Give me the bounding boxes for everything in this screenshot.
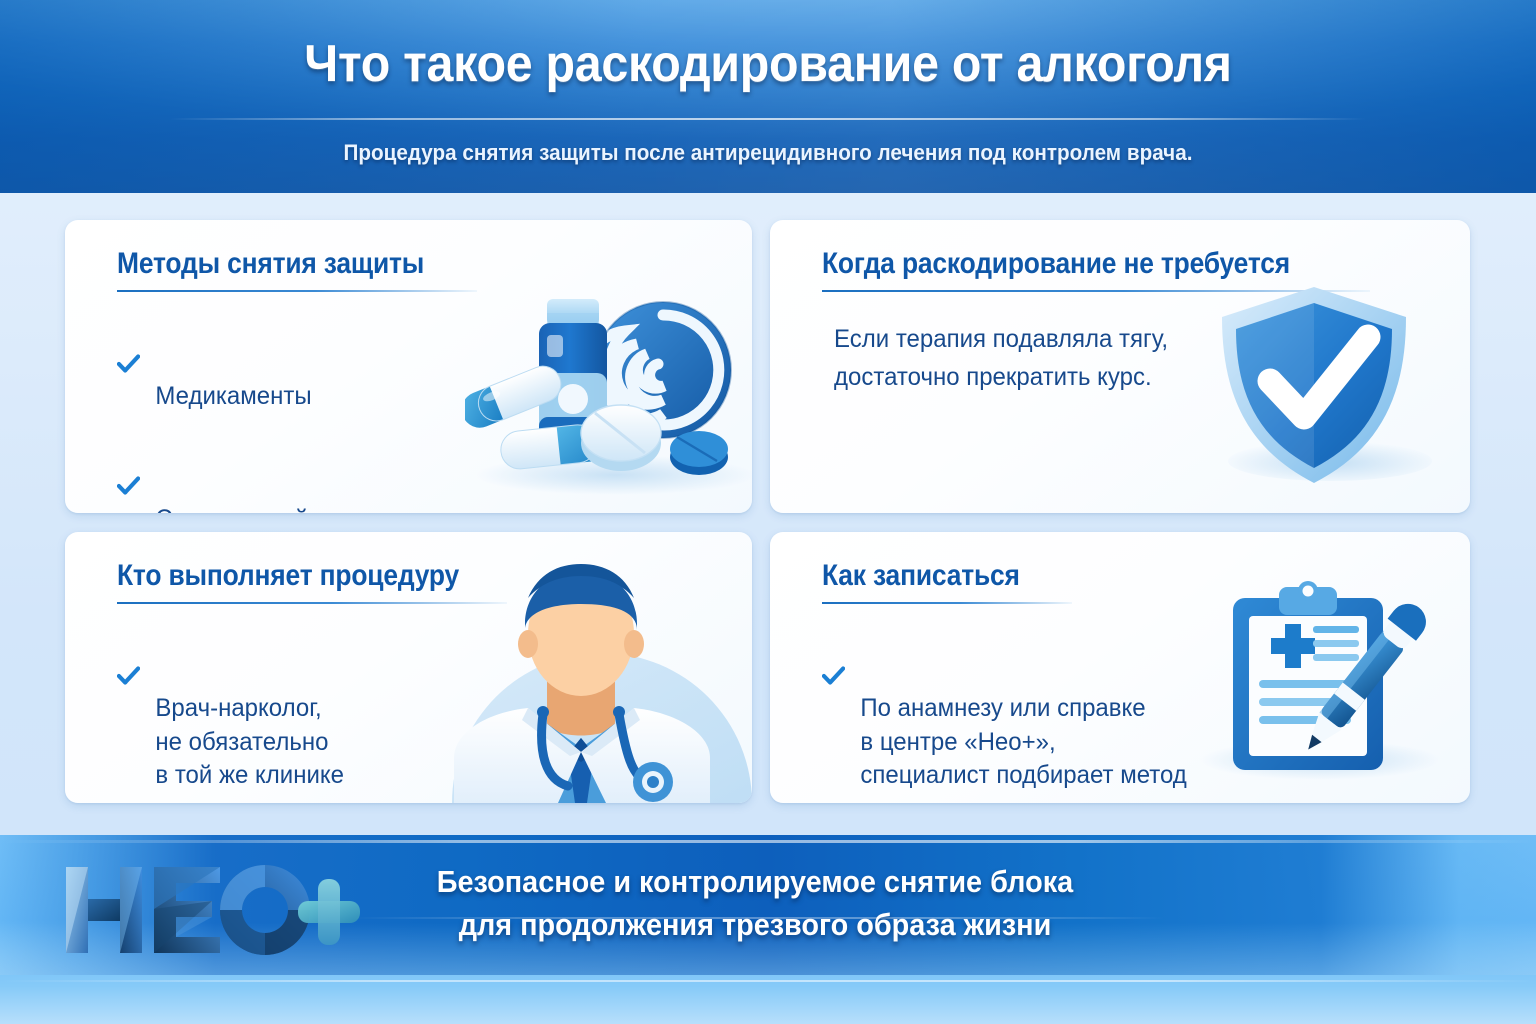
list-item-label: По анамнезу или справке в центре «Нео+»,… xyxy=(860,694,1186,789)
logo-icon xyxy=(60,857,360,963)
card-methods-list: Медикаменты Суггестивный гипноз Внушение… xyxy=(117,313,407,513)
footer-tagline: Безопасное и контролируемое снятие блока… xyxy=(388,861,1123,947)
card-howto-title: Как записаться xyxy=(822,559,1020,593)
shield-check-icon xyxy=(1210,275,1435,500)
page-subtitle: Процедура снятия защиты после антирециди… xyxy=(46,140,1490,166)
list-item: Медикаменты xyxy=(117,313,396,414)
card-who: Кто выполняет процедуру Врач-нарколог, н… xyxy=(65,532,752,803)
card-methods-underline xyxy=(117,290,477,292)
card-not-needed-text: Если терапия подавляла тягу, достаточно … xyxy=(834,320,1168,396)
card-not-needed-title: Когда раскодирование не требуется xyxy=(822,247,1290,281)
card-howto-list: По анамнезу или справке в центре «Нео+»,… xyxy=(822,625,1202,803)
footer-top-divider xyxy=(0,840,1536,843)
list-item: Суггестивный гипноз xyxy=(117,436,396,514)
list-item-label: Суггестивный гипноз xyxy=(155,505,387,514)
list-item: По анамнезу или справке в центре «Нео+»,… xyxy=(822,625,1187,793)
cards-grid: Методы снятия защиты Медикаменты Суггест… xyxy=(0,193,1536,835)
card-howto: Как записаться По анамнезу или справке в… xyxy=(770,532,1470,803)
pills-bottle-spiral-icon xyxy=(465,285,752,500)
card-not-needed-underline xyxy=(822,290,1370,292)
doctor-icon xyxy=(410,542,752,803)
card-who-title: Кто выполняет процедуру xyxy=(117,559,459,593)
check-icon xyxy=(117,440,140,462)
card-not-needed: Когда раскодирование не требуется Если т… xyxy=(770,220,1470,513)
header-banner: Что такое раскодирование от алкоголя Про… xyxy=(0,0,1536,193)
check-icon xyxy=(822,629,845,651)
list-item-label: Врач-нарколог, не обязательно в той же к… xyxy=(155,694,344,789)
footer-banner: НЕО+ Безопасное и контролируемое снятие … xyxy=(0,835,1536,1024)
infographic-poster: Что такое раскодирование от алкоголя Про… xyxy=(0,0,1536,1024)
card-methods: Методы снятия защиты Медикаменты Суггест… xyxy=(65,220,752,513)
page-title: Что такое раскодирование от алкоголя xyxy=(54,34,1482,94)
footer-bottom-divider xyxy=(0,980,1536,982)
clipboard-pen-icon xyxy=(1195,580,1450,785)
list-item-label: Медикаменты xyxy=(155,382,311,410)
list-item: Врач-нарколог, не обязательно в той же к… xyxy=(117,625,344,793)
check-icon xyxy=(117,629,140,651)
neo-plus-logo[interactable]: НЕО+ xyxy=(60,857,360,963)
check-icon xyxy=(117,317,140,339)
card-methods-title: Методы снятия защиты xyxy=(117,247,424,281)
card-howto-underline xyxy=(822,602,1072,604)
card-who-list: Врач-нарколог, не обязательно в той же к… xyxy=(117,625,353,803)
card-who-underline xyxy=(117,602,507,604)
header-divider xyxy=(170,118,1366,120)
